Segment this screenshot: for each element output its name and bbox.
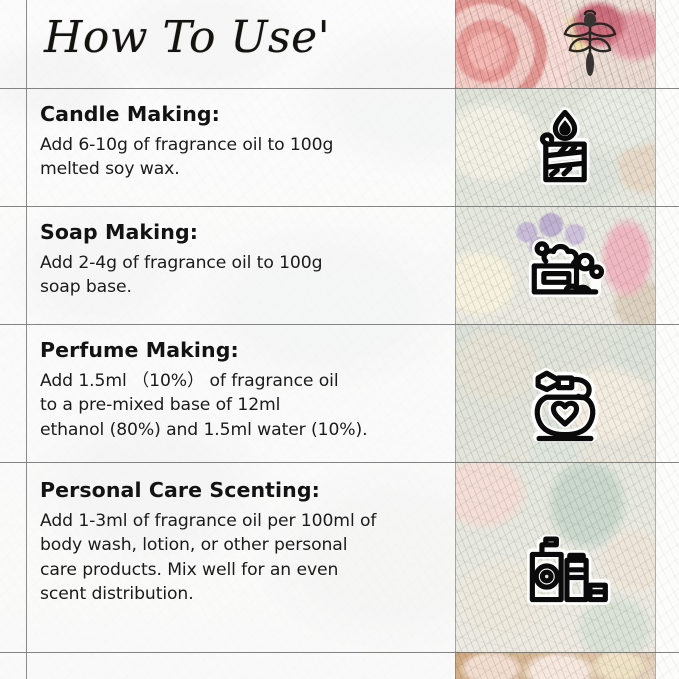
right-column-edge-rule <box>655 0 656 679</box>
body-line: scent distribution. <box>40 582 444 606</box>
column-divider-rule <box>455 0 456 679</box>
candle-icon <box>515 97 615 197</box>
section-body-perfume-making: Add 1.5ml （10%） of fragrance oil to a pr… <box>40 369 444 442</box>
body-line: care products. Mix well for an even <box>40 558 444 582</box>
section-heading-personal-care-scenting: Personal Care Scenting: <box>40 478 444 502</box>
body-line: melted soy wax. <box>40 157 444 181</box>
section-perfume-making: Perfume Making: Add 1.5ml （10%） of fragr… <box>40 338 444 442</box>
body-line: to a pre-mixed base of 12ml <box>40 393 444 417</box>
personal-care-bottles-icon <box>515 515 615 615</box>
divider-rule-4 <box>0 462 679 463</box>
section-candle-making: Candle Making: Add 6-10g of fragrance oi… <box>40 102 444 182</box>
divider-rule-5 <box>0 652 679 653</box>
body-line: body wash, lotion, or other personal <box>40 533 444 557</box>
how-to-use-infographic: How To Use' Candle Making: Add 6-10g of … <box>0 0 679 679</box>
section-heading-candle-making: Candle Making: <box>40 102 444 126</box>
right-edge-sliver <box>655 0 679 679</box>
body-line: Add 2-4g of fragrance oil to 100g <box>40 251 444 275</box>
left-margin-rule <box>26 0 27 679</box>
divider-rule-3 <box>0 324 679 325</box>
body-line: Add 1-3ml of fragrance oil per 100ml of <box>40 509 444 533</box>
body-line: soap base. <box>40 275 444 299</box>
soap-bar-bubbles-icon <box>515 215 615 315</box>
section-heading-soap-making: Soap Making: <box>40 220 444 244</box>
body-line: ethanol (80%) and 1.5ml water (10%). <box>40 418 444 442</box>
floral-bottom-band <box>455 652 655 679</box>
section-body-soap-making: Add 2-4g of fragrance oil to 100g soap b… <box>40 251 444 300</box>
divider-rule-1 <box>0 88 679 89</box>
section-soap-making: Soap Making: Add 2-4g of fragrance oil t… <box>40 220 444 300</box>
body-line: Add 6-10g of fragrance oil to 100g <box>40 133 444 157</box>
section-personal-care-scenting: Personal Care Scenting: Add 1-3ml of fra… <box>40 478 444 607</box>
section-body-personal-care-scenting: Add 1-3ml of fragrance oil per 100ml of … <box>40 509 444 607</box>
floral-rose-dragonfly-band <box>455 0 655 88</box>
perfume-atomizer-heart-icon <box>515 352 615 452</box>
page-title: How To Use' <box>44 12 330 63</box>
section-body-candle-making: Add 6-10g of fragrance oil to 100g melte… <box>40 133 444 182</box>
section-heading-perfume-making: Perfume Making: <box>40 338 444 362</box>
divider-rule-2 <box>0 206 679 207</box>
body-line: Add 1.5ml （10%） of fragrance oil <box>40 369 444 393</box>
